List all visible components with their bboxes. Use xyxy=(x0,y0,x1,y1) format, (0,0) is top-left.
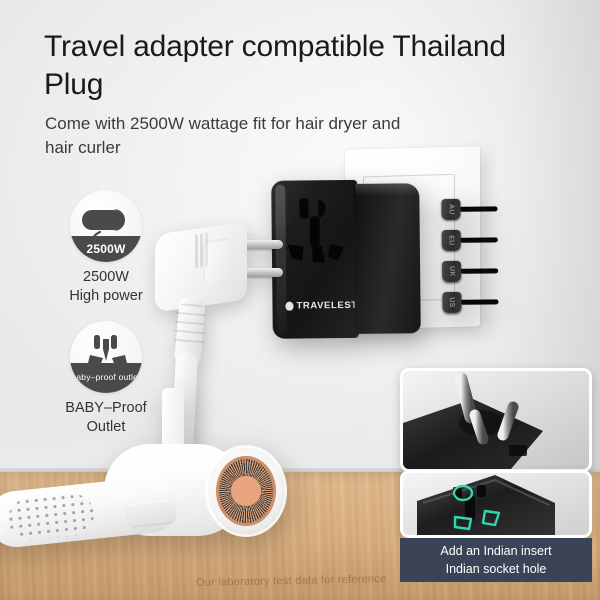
universal-socket-photo xyxy=(403,473,589,535)
page-title: Travel adapter compatible Thailand Plug xyxy=(44,28,524,104)
product-image-canvas: TRAVELEST AU EU xyxy=(0,0,600,600)
badge-band: 2500W xyxy=(70,236,142,262)
plug-grip-grooves xyxy=(195,234,198,268)
universal-socket-icon xyxy=(285,196,346,273)
slider-knob[interactable]: EU xyxy=(442,230,461,251)
badge-caption: BABY–Proof Outlet xyxy=(44,399,168,438)
adapter-side-panel: AU EU UK US xyxy=(353,183,421,334)
badge-band-label: baby–proof outlet xyxy=(71,372,140,383)
brand-name: TRAVELEST xyxy=(296,300,357,312)
brand-logo: TRAVELEST xyxy=(285,300,357,312)
page-subtitle: Come with 2500W wattage fit for hair dry… xyxy=(45,112,425,160)
slider-label: AU xyxy=(447,204,454,215)
slider-us[interactable]: US xyxy=(442,289,500,317)
badge-band: baby–proof outlet xyxy=(70,363,142,393)
slider-au[interactable]: AU xyxy=(441,196,499,224)
slider-track xyxy=(460,299,498,304)
slider-track xyxy=(460,268,498,273)
slider-knob[interactable]: UK xyxy=(442,261,461,282)
baby-proof-outlet-icon: baby–proof outlet xyxy=(70,321,142,393)
plug-selector-sliders: AU EU UK US xyxy=(441,196,500,321)
feature-badge-baby-proof: baby–proof outlet BABY–Proof Outlet xyxy=(44,321,168,438)
slider-knob[interactable]: US xyxy=(442,292,461,313)
badge-caption: 2500W High power xyxy=(44,268,168,307)
hair-dryer-filter-icon xyxy=(216,456,276,526)
travel-adapter-product: TRAVELEST AU EU xyxy=(271,179,421,339)
slider-label: UK xyxy=(448,266,455,277)
slider-knob[interactable]: AU xyxy=(441,199,460,220)
caption-line-1: Add an Indian insert xyxy=(440,543,551,560)
inset-caption: Add an Indian insert Indian socket hole xyxy=(400,538,592,582)
inset-universal-socket xyxy=(400,470,592,538)
inset-indian-plug-pins xyxy=(400,368,592,472)
slider-uk[interactable]: UK xyxy=(442,258,500,286)
feature-badge-list: 2500W 2500W High power baby–proof ou xyxy=(44,190,168,451)
slider-track xyxy=(460,237,498,242)
brand-mark-icon xyxy=(285,302,293,311)
feature-badge-high-power: 2500W 2500W High power xyxy=(44,190,168,307)
caption-line-2: Indian socket hole xyxy=(446,561,547,578)
slider-track xyxy=(459,206,497,211)
slider-eu[interactable]: EU xyxy=(442,227,500,255)
white-power-plug xyxy=(155,212,285,362)
indian-plug-pins-photo xyxy=(403,371,589,469)
badge-band-label: 2500W xyxy=(86,243,125,255)
plug-cable-ribs xyxy=(173,303,207,349)
slider-label: US xyxy=(448,297,455,307)
slider-label: EU xyxy=(448,235,455,245)
hair-dryer-icon: 2500W xyxy=(70,190,142,262)
hair-dryer-product xyxy=(0,440,310,580)
